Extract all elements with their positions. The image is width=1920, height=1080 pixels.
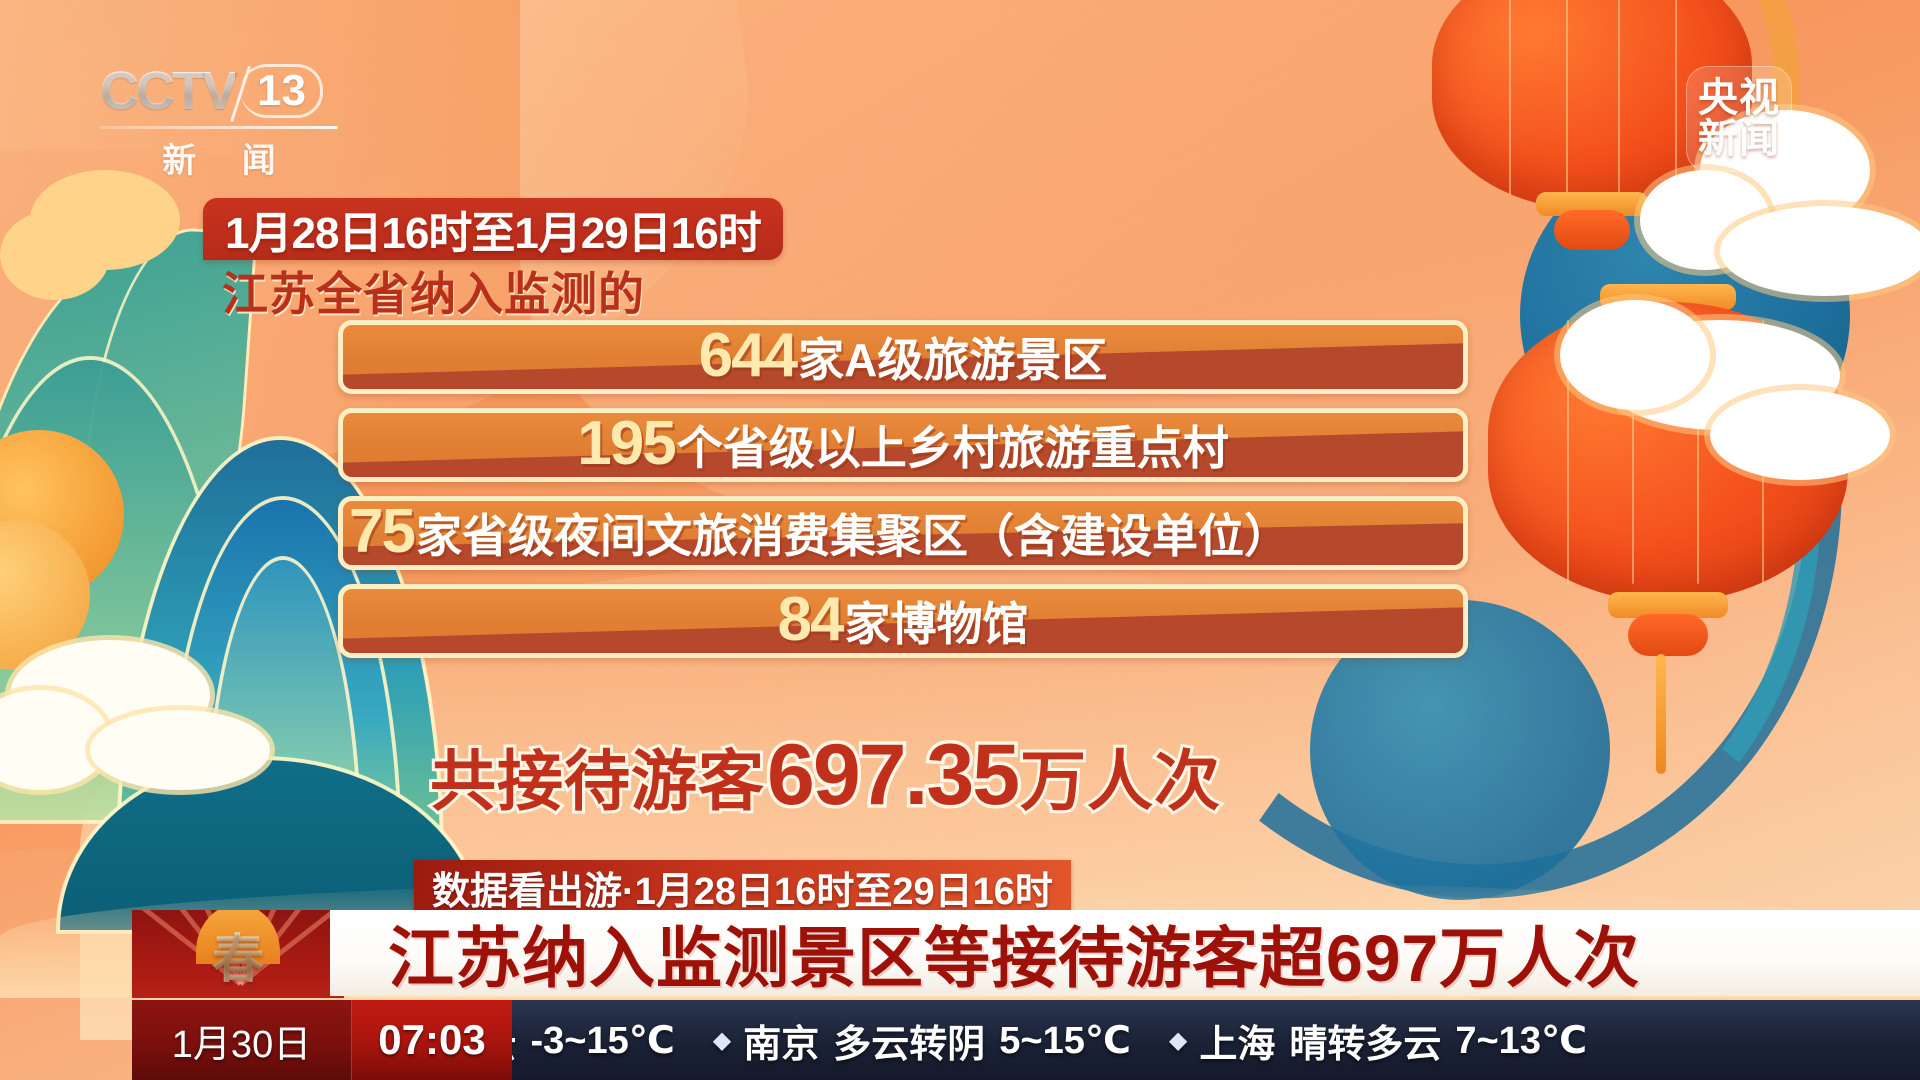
stat-label: 家省级夜间文旅消费集聚区（含建设单位） bbox=[416, 500, 1290, 566]
stat-row: 644 家A级旅游景区 bbox=[338, 320, 1468, 394]
stat-number: 644 bbox=[699, 325, 796, 387]
date-range-banner: 1月28日16时至1月29日16时 bbox=[203, 198, 783, 260]
headline-bar: 江苏纳入监测景区等接待游客超697万人次 bbox=[330, 910, 1920, 996]
stat-number: 84 bbox=[778, 589, 843, 651]
total-number: 697.35 bbox=[767, 726, 1018, 825]
spring-character: 春 bbox=[212, 917, 264, 992]
weather-temperature: 5~15℃ bbox=[999, 1018, 1131, 1063]
total-visitors-line: 共接待游客 697.35 万人次 bbox=[430, 726, 1221, 825]
sun-decoration bbox=[0, 520, 90, 670]
mountain-decoration bbox=[208, 560, 358, 860]
total-suffix: 万人次 bbox=[1020, 728, 1221, 824]
headline-text: 江苏纳入监测景区等接待游客超697万人次 bbox=[388, 905, 1640, 1001]
weather-item: ◆ 上海 晴转多云 7~13℃ bbox=[1169, 1013, 1587, 1068]
broadcast-screen: CCTV 13 新 闻 央视 新闻 1月28日16时至1月29日16时 江苏全省… bbox=[0, 0, 1920, 1080]
news-ticker: 1月30日 07:03 ◆ 云 -3~15℃ ◆ 南京 多云转阴 bbox=[132, 1000, 1920, 1080]
channel-name-label: 新 闻 bbox=[100, 133, 338, 182]
stat-row: 195 个省级以上乡村旅游重点村 bbox=[338, 408, 1468, 482]
logo-underline bbox=[100, 126, 338, 129]
ticker-date: 1月30日 bbox=[132, 1000, 352, 1080]
spring-festival-logo: 春 bbox=[132, 910, 344, 998]
channel-number: 13 bbox=[257, 66, 306, 116]
diamond-icon: ◆ bbox=[713, 1026, 731, 1055]
stat-label: 家A级旅游景区 bbox=[798, 324, 1107, 390]
mountain-decoration bbox=[0, 360, 240, 820]
weather-city: 南京 bbox=[743, 1013, 819, 1068]
weather-condition: 晴转多云 bbox=[1289, 1013, 1441, 1068]
weather-item-list: ◆ 云 -3~15℃ ◆ 南京 多云转阴 5~15℃ ◆ 上海 晴 bbox=[512, 1013, 1625, 1068]
ticker-clock: 07:03 bbox=[352, 1000, 512, 1080]
stat-number: 75 bbox=[349, 501, 414, 563]
stat-label: 家博物馆 bbox=[844, 588, 1028, 654]
graphic-subtitle: 江苏全省纳入监测的 bbox=[222, 258, 645, 324]
weather-city: 上海 bbox=[1199, 1013, 1275, 1068]
weather-temperature: -3~15℃ bbox=[530, 1018, 674, 1063]
leaf-decoration bbox=[0, 235, 216, 724]
cctv-news-watermark: 央视 新闻 bbox=[1686, 66, 1792, 172]
weather-ticker: ◆ 云 -3~15℃ ◆ 南京 多云转阴 5~15℃ ◆ 上海 晴 bbox=[512, 1000, 1920, 1080]
watermark-line-2: 新闻 bbox=[1698, 119, 1780, 160]
watermark-line-1: 央视 bbox=[1698, 78, 1780, 119]
weather-item: ◆ 南京 多云转阴 5~15℃ bbox=[713, 1013, 1131, 1068]
weather-item: ◆ 云 -3~15℃ bbox=[512, 1013, 675, 1068]
stat-label: 个省级以上乡村旅游重点村 bbox=[677, 412, 1229, 478]
date-range-text: 1月28日16时至1月29日16时 bbox=[225, 197, 761, 261]
stat-number: 195 bbox=[577, 413, 674, 475]
stat-row: 75 家省级夜间文旅消费集聚区（含建设单位） bbox=[338, 496, 1468, 570]
sun-decoration bbox=[0, 430, 124, 600]
diamond-icon: ◆ bbox=[1169, 1026, 1187, 1055]
channel-number-badge: 13 bbox=[241, 64, 323, 118]
statistics-list: 644 家A级旅游景区 195 个省级以上乡村旅游重点村 75 家省级夜间文旅消… bbox=[338, 320, 1468, 672]
cctv-logo: CCTV 13 新 闻 bbox=[100, 60, 340, 182]
lantern-icon bbox=[1488, 262, 1848, 662]
cctv-wordmark: CCTV bbox=[100, 60, 235, 122]
stat-row: 84 家博物馆 bbox=[338, 584, 1468, 658]
ticker-time-text: 07:03 bbox=[378, 1016, 485, 1064]
weather-temperature: 7~13℃ bbox=[1455, 1018, 1587, 1063]
weather-condition: 云 bbox=[512, 1013, 516, 1068]
total-prefix: 共接待游客 bbox=[430, 728, 765, 824]
blue-disc-decoration bbox=[1520, 150, 1850, 480]
weather-condition: 多云转阴 bbox=[833, 1013, 985, 1068]
ticker-date-text: 1月30日 bbox=[172, 1013, 311, 1068]
